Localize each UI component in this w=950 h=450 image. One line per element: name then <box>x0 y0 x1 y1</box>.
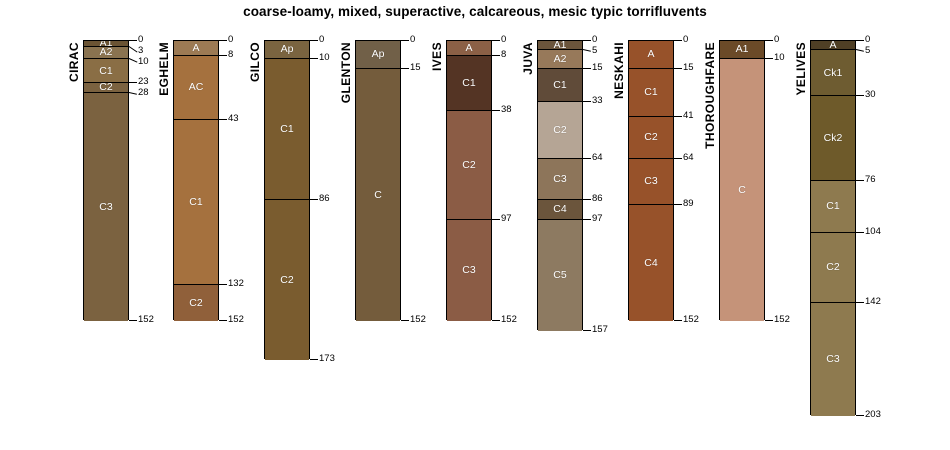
profile-column: ApC1C2 <box>264 40 310 359</box>
profile-column: A1A2C1C2C3C4C5 <box>537 40 583 330</box>
horizon-label: Ap <box>372 49 385 60</box>
profile-column: ACk1Ck2C1C2C3 <box>810 40 856 415</box>
profile-column: AACC1C2 <box>173 40 219 320</box>
depth-tick-label: 3 <box>138 46 143 56</box>
soil-horizon: Ck2 <box>811 96 855 181</box>
horizon-label: C1 <box>553 80 566 91</box>
depth-tick-leader <box>583 199 591 200</box>
depth-tick-leader <box>310 359 318 360</box>
soil-profile-chart: CIRACA1A2C1C2C303102328152EGHELMAACC1C20… <box>0 0 950 450</box>
horizon-label: C <box>738 185 746 196</box>
soil-horizon: C2 <box>811 233 855 303</box>
depth-tick-label: 0 <box>865 35 870 45</box>
profile-name-label: IVES <box>430 42 444 71</box>
depth-tick-leader <box>129 320 137 321</box>
soil-horizon: C4 <box>538 200 582 220</box>
depth-tick-label: 0 <box>501 35 506 45</box>
depth-tick-leader <box>219 320 227 321</box>
soil-horizon: A1 <box>538 41 582 50</box>
soil-horizon: C1 <box>265 59 309 199</box>
horizon-label: C2 <box>280 275 293 286</box>
profile-column: ApC <box>355 40 401 320</box>
depth-tick-label: 0 <box>138 35 143 45</box>
soil-horizon: C2 <box>265 200 309 361</box>
profile-name-label: CIRAC <box>67 42 81 82</box>
depth-tick-label: 104 <box>865 227 881 237</box>
soil-horizon: C3 <box>447 220 491 321</box>
depth-tick-label: 28 <box>138 88 149 98</box>
horizon-label: C1 <box>826 201 839 212</box>
depth-tick-label: 132 <box>228 279 244 289</box>
depth-tick-leader <box>583 49 591 52</box>
horizon-label: C1 <box>462 78 475 89</box>
soil-horizon: A <box>811 41 855 50</box>
profile-name-label: GLENTON <box>339 42 353 103</box>
depth-tick-leader <box>492 110 500 111</box>
horizon-label: A1 <box>554 41 567 50</box>
depth-tick-label: 89 <box>683 199 694 209</box>
depth-tick-label: 152 <box>138 315 154 325</box>
depth-tick-label: 0 <box>592 35 597 45</box>
depth-tick-label: 152 <box>501 315 517 325</box>
soil-horizon: C3 <box>629 159 673 205</box>
depth-tick-leader <box>401 68 409 69</box>
soil-horizon: C5 <box>538 220 582 331</box>
depth-tick-leader <box>674 40 682 41</box>
horizon-label: A <box>647 49 654 60</box>
profile-name-label: JUVA <box>521 42 535 75</box>
depth-tick-label: 64 <box>683 153 694 163</box>
profile-name-label: THOROUGHFARE <box>703 42 717 149</box>
depth-tick-leader <box>492 40 500 41</box>
depth-tick-label: 8 <box>228 50 233 60</box>
horizon-label: C3 <box>826 354 839 365</box>
horizon-label: C1 <box>189 197 202 208</box>
horizon-label: C1 <box>99 66 112 77</box>
depth-tick-label: 173 <box>319 354 335 364</box>
soil-horizon: A2 <box>84 47 128 60</box>
soil-horizon: AC <box>174 56 218 121</box>
horizon-label: C2 <box>462 160 475 171</box>
depth-tick-leader <box>765 58 773 59</box>
depth-tick-leader <box>765 320 773 321</box>
profile-name-label: GILCO <box>248 42 262 82</box>
depth-tick-leader <box>583 40 591 41</box>
depth-tick-label: 0 <box>774 35 779 45</box>
horizon-label: C3 <box>99 202 112 213</box>
depth-tick-label: 30 <box>865 90 876 100</box>
depth-tick-label: 10 <box>138 57 149 67</box>
horizon-label: C2 <box>99 83 112 92</box>
profile-column: A1A2C1C2C3 <box>83 40 129 320</box>
horizon-label: C2 <box>553 125 566 136</box>
soil-horizon: C3 <box>538 159 582 200</box>
depth-tick-label: 152 <box>410 315 426 325</box>
depth-tick-leader <box>856 95 864 96</box>
horizon-label: C2 <box>644 132 657 143</box>
soil-horizon: C4 <box>629 205 673 321</box>
profile-column: AC1C2C3 <box>446 40 492 320</box>
soil-horizon: C1 <box>84 59 128 83</box>
depth-tick-label: 10 <box>319 53 330 63</box>
depth-tick-leader <box>310 40 318 41</box>
horizon-label: Ck1 <box>824 68 843 79</box>
depth-tick-leader <box>401 40 409 41</box>
soil-horizon: C2 <box>629 117 673 159</box>
horizon-label: A2 <box>554 54 567 65</box>
depth-tick-label: 10 <box>774 53 785 63</box>
depth-tick-label: 97 <box>501 214 512 224</box>
depth-tick-leader <box>583 219 591 220</box>
depth-tick-label: 38 <box>501 105 512 115</box>
soil-horizon: A1 <box>720 41 764 59</box>
profile-name-label: EGHELM <box>157 42 171 96</box>
depth-tick-leader <box>856 180 864 181</box>
profile-column: AC1C2C3C4 <box>628 40 674 320</box>
soil-horizon: Ap <box>356 41 400 69</box>
depth-tick-label: 5 <box>592 46 597 56</box>
horizon-label: Ap <box>281 44 294 55</box>
soil-horizon: A2 <box>538 50 582 68</box>
depth-tick-leader <box>674 158 682 159</box>
depth-tick-leader <box>129 82 137 83</box>
profile-column: A1C <box>719 40 765 320</box>
horizon-label: A <box>192 43 199 54</box>
depth-tick-leader <box>492 320 500 321</box>
depth-tick-leader <box>492 55 500 56</box>
soil-horizon: C1 <box>538 69 582 102</box>
depth-tick-leader <box>129 40 137 41</box>
depth-tick-leader <box>674 204 682 205</box>
depth-tick-label: 152 <box>683 315 699 325</box>
depth-tick-leader <box>674 68 682 69</box>
depth-tick-leader <box>583 101 591 102</box>
depth-tick-label: 0 <box>683 35 688 45</box>
depth-tick-label: 0 <box>319 35 324 45</box>
horizon-label: AC <box>189 82 204 93</box>
soil-horizon: C2 <box>447 111 491 220</box>
horizon-label: A1 <box>736 44 749 55</box>
soil-horizon: Ap <box>265 41 309 59</box>
depth-tick-leader <box>129 46 138 52</box>
horizon-label: Ck2 <box>824 133 843 144</box>
depth-tick-label: 43 <box>228 114 239 124</box>
horizon-label: C1 <box>644 87 657 98</box>
depth-tick-leader <box>765 40 773 41</box>
horizon-label: C5 <box>553 270 566 281</box>
profile-name-label: YELIVES <box>794 42 808 95</box>
depth-tick-leader <box>129 92 137 95</box>
depth-tick-leader <box>219 55 227 56</box>
horizon-label: C2 <box>826 262 839 273</box>
depth-tick-label: 15 <box>410 63 421 73</box>
depth-tick-label: 0 <box>410 35 415 45</box>
horizon-label: C3 <box>644 176 657 187</box>
depth-tick-label: 86 <box>592 194 603 204</box>
soil-horizon: C2 <box>538 102 582 159</box>
depth-tick-label: 76 <box>865 175 876 185</box>
depth-tick-label: 0 <box>228 35 233 45</box>
depth-tick-leader <box>856 415 864 416</box>
soil-horizon: C1 <box>447 56 491 111</box>
depth-tick-leader <box>310 199 318 200</box>
depth-tick-leader <box>583 330 591 331</box>
soil-horizon: C1 <box>629 69 673 117</box>
soil-horizon: A <box>447 41 491 56</box>
depth-tick-label: 152 <box>228 315 244 325</box>
horizon-label: A <box>465 43 472 54</box>
depth-tick-leader <box>492 219 500 220</box>
soil-horizon: C2 <box>174 285 218 322</box>
depth-tick-leader <box>674 116 682 117</box>
horizon-label: C3 <box>553 174 566 185</box>
profile-name-label: NESKAHI <box>612 42 626 99</box>
depth-tick-leader <box>401 320 409 321</box>
depth-tick-leader <box>674 320 682 321</box>
depth-tick-leader <box>856 232 864 233</box>
depth-tick-label: 203 <box>865 410 881 420</box>
depth-tick-leader <box>583 158 591 159</box>
soil-horizon: C3 <box>811 303 855 416</box>
horizon-label: C <box>374 190 382 201</box>
depth-tick-leader <box>219 40 227 41</box>
depth-tick-label: 86 <box>319 194 330 204</box>
horizon-label: C1 <box>280 124 293 135</box>
soil-horizon: C1 <box>811 181 855 233</box>
depth-tick-label: 64 <box>592 153 603 163</box>
horizon-label: C3 <box>462 265 475 276</box>
horizon-label: A <box>829 41 836 50</box>
depth-tick-label: 157 <box>592 325 608 335</box>
depth-tick-leader <box>129 58 137 62</box>
soil-horizon: Ck1 <box>811 50 855 96</box>
depth-tick-label: 41 <box>683 111 694 121</box>
depth-tick-label: 142 <box>865 297 881 307</box>
depth-tick-leader <box>856 40 864 41</box>
depth-tick-leader <box>856 302 864 303</box>
depth-tick-label: 23 <box>138 77 149 87</box>
depth-tick-label: 5 <box>865 46 870 56</box>
soil-horizon: C3 <box>84 93 128 322</box>
soil-horizon: C <box>356 69 400 322</box>
horizon-label: C4 <box>644 258 657 269</box>
soil-horizon: C2 <box>84 83 128 92</box>
depth-tick-label: 33 <box>592 96 603 106</box>
horizon-label: C2 <box>189 298 202 309</box>
soil-horizon: A <box>174 41 218 56</box>
depth-tick-leader <box>219 284 227 285</box>
horizon-label: C4 <box>553 204 566 215</box>
soil-horizon: C1 <box>174 120 218 284</box>
depth-tick-label: 8 <box>501 50 506 60</box>
depth-tick-leader <box>583 68 591 69</box>
soil-horizon: A <box>629 41 673 69</box>
depth-tick-label: 15 <box>683 63 694 73</box>
horizon-label: A2 <box>100 47 113 58</box>
depth-tick-label: 152 <box>774 315 790 325</box>
depth-tick-leader <box>856 49 864 52</box>
depth-tick-label: 15 <box>592 63 603 73</box>
depth-tick-label: 97 <box>592 214 603 224</box>
soil-horizon: C <box>720 59 764 321</box>
depth-tick-leader <box>310 58 318 59</box>
depth-tick-leader <box>219 119 227 120</box>
